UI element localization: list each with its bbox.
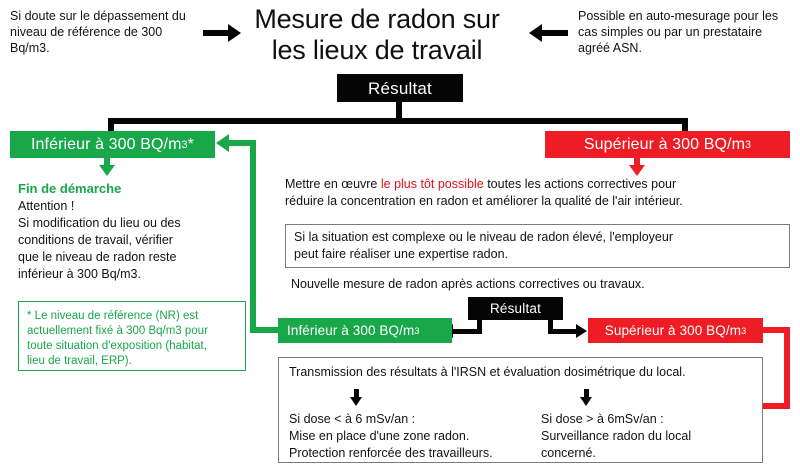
green-top-star: * [188,136,194,154]
left-branch-heading: Fin de démarche [18,180,233,198]
low-dose-line2: Mise en place d'une zone radon. [289,428,529,445]
footnote-line4: lieu de travail, ERP). [27,354,237,369]
result-bottom-node[interactable]: Résultat [468,297,563,320]
header-right-note: Possible en auto-mesurage pour les cas s… [578,8,790,56]
left-branch-line1: Attention ! [18,198,233,215]
red-top-label: Supérieur à 300 BQ/m [584,136,745,154]
green-top-node[interactable]: Inférieur à 300 BQ/m3 * [10,131,215,158]
page-title: Mesure de radon sur les lieux de travail [232,4,522,66]
left-branch-line3: conditions de travail, vérifier [18,232,233,249]
left-branch-line5: inférieur à 300 Bq/m3. [18,266,233,283]
radon-workflow-diagram: Si doute sur le dépassement du niveau de… [0,0,800,470]
footnote-line3: toute situation d'exposition (habitat, [27,339,237,354]
red-bottom-node[interactable]: Supérieur à 300 BQ/m3 [588,318,763,343]
footnote-line1: * Le niveau de référence (NR) est [27,309,237,324]
expertise-line1: Si la situation est complexe ou le nivea… [294,229,781,246]
red-top-node[interactable]: Supérieur à 300 BQ/m3 [545,131,790,158]
high-dose-line3: concerné. [541,445,756,462]
high-dose-line1: Si dose > à 6mSv/an : [541,411,756,428]
left-branch-text: Fin de démarche Attention ! Si modificat… [18,180,233,283]
header-left-note: Si doute sur le dépassement du niveau de… [10,8,205,56]
left-branch-line4: que le niveau de radon reste [18,249,233,266]
corrective-line2: réduire la concentration en radon et amé… [285,193,790,210]
outcome-transmission: Transmission des résultats à l'IRSN et é… [289,364,759,381]
corrective-actions-text: Mettre en œuvre le plus tôt possible tou… [285,176,790,210]
footnote-box: * Le niveau de référence (NR) est actuel… [18,301,246,371]
expertise-box: Si la situation est complexe ou le nivea… [285,224,790,268]
footnote-line2: actuellement fixé à 300 Bq/m3 pour [27,324,237,339]
corrective-highlight: le plus tôt possible [381,177,484,191]
result-top-node[interactable]: Résultat [337,74,463,102]
left-branch-line2: Si modification du lieu ou des [18,215,233,232]
low-dose-text: Si dose < à 6 mSv/an : Mise en place d'u… [289,411,529,462]
low-dose-line3: Protection renforcée des travailleurs. [289,445,529,462]
red-bottom-label: Supérieur à 300 BQ/m [605,323,741,338]
green-bottom-label: Inférieur à 300 BQ/m [287,323,414,338]
new-measure-text: Nouvelle mesure de radon après actions c… [291,276,796,293]
outcome-box: Transmission des résultats à l'IRSN et é… [278,357,763,463]
page-title-line1: Mesure de radon sur [232,4,522,35]
corrective-post: toutes les actions correctives pour [484,177,676,191]
expertise-line2: peut faire réaliser une expertise radon. [294,246,781,263]
low-dose-line1: Si dose < à 6 mSv/an : [289,411,529,428]
high-dose-text: Si dose > à 6mSv/an : Surveillance radon… [541,411,756,462]
page-title-line2: les lieux de travail [232,35,522,66]
green-bottom-node[interactable]: Inférieur à 300 BQ/m3 [278,318,452,343]
high-dose-line2: Surveillance radon du local [541,428,756,445]
corrective-pre: Mettre en œuvre [285,177,381,191]
green-top-label: Inférieur à 300 BQ/m [31,136,182,154]
